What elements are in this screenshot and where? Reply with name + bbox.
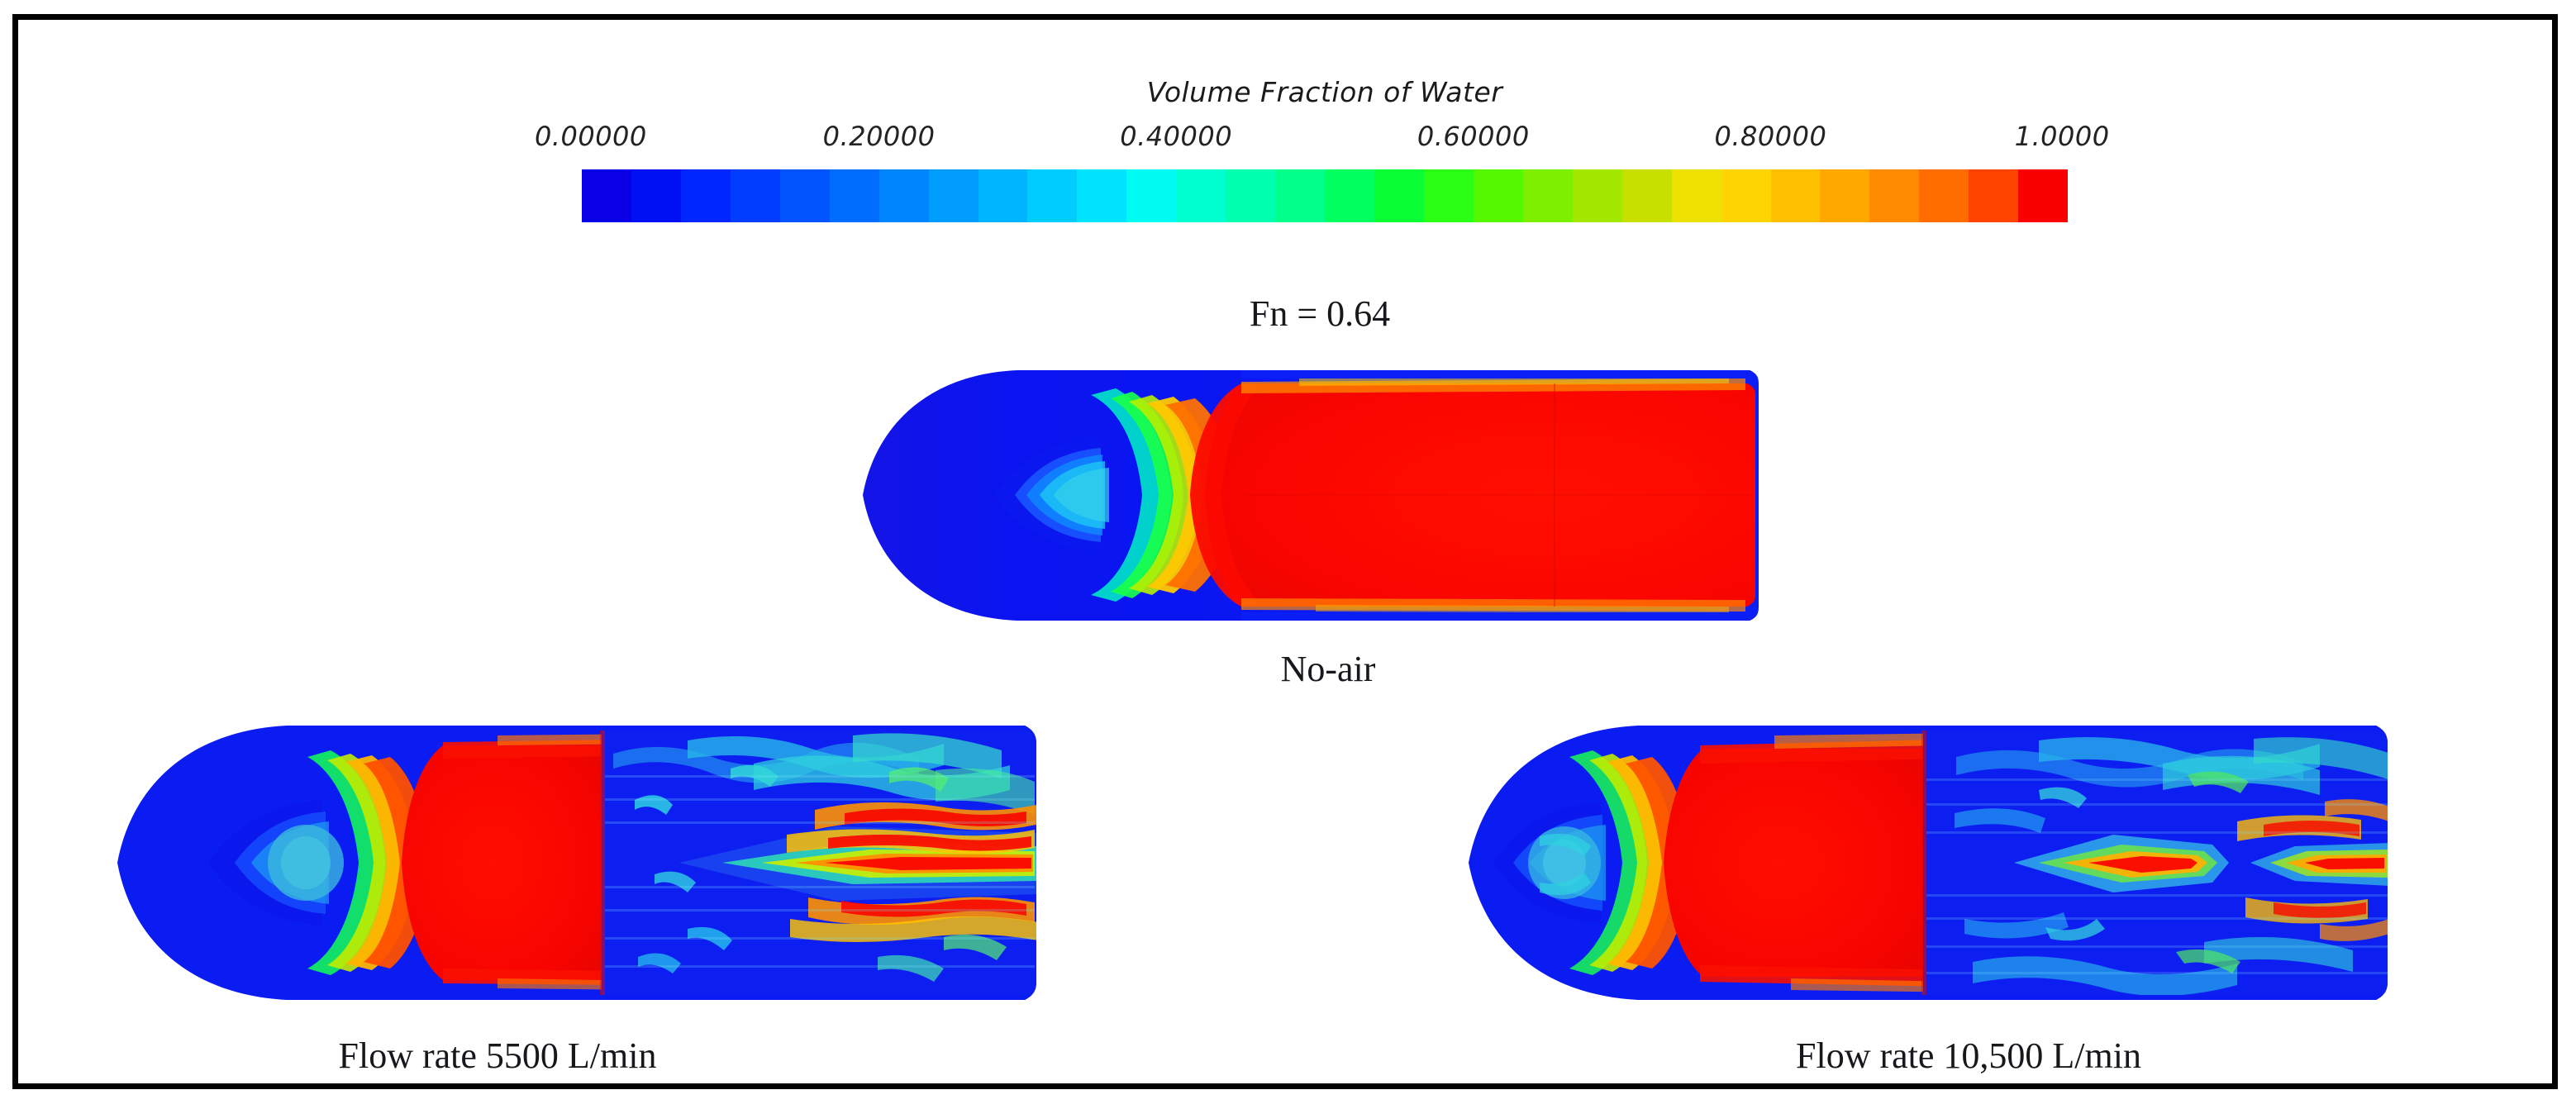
colorbar-tick-2: 0.40000 [1120,121,1232,152]
colorbar-band-16 [1374,169,1424,222]
colorbar-band-4 [780,169,830,222]
colorbar-band-7 [929,169,978,222]
air-cavity-field-5500 [600,726,1040,1000]
hull-panel-no-air [853,365,1762,626]
hull-field-flow-10500 [1460,721,2394,1006]
colorbar-title: Volume Fraction of Water [582,76,2068,108]
colorbar-gradient [582,169,2068,222]
colorbar-band-13 [1226,169,1275,222]
colorbar-tick-1: 0.20000 [823,121,936,152]
hull-contour-no-air [853,365,1762,626]
colorbar-band-17 [1424,169,1474,222]
colorbar-band-10 [1077,169,1126,222]
hull-panel-flow-5500 [109,721,1043,1006]
caption-flow-10500: Flow rate 10,500 L/min [1663,1035,2274,1077]
colorbar-band-22 [1672,169,1721,222]
no-air-label: No-air [1150,648,1506,690]
colorbar-band-26 [1869,169,1919,222]
colorbar-band-9 [1027,169,1077,222]
colorbar-band-5 [830,169,879,222]
colorbar-tick-3: 0.60000 [1417,121,1530,152]
air-cavity-field-10500 [1921,726,2391,1000]
colorbar-band-24 [1771,169,1821,222]
colorbar-band-19 [1523,169,1573,222]
colorbar-band-11 [1126,169,1176,222]
caption-flow-5500: Flow rate 5500 L/min [217,1035,779,1077]
colorbar-band-23 [1721,169,1771,222]
colorbar-band-0 [582,169,631,222]
colorbar-band-8 [978,169,1028,222]
hull-contour-flow-10500 [1460,721,2394,1006]
colorbar-band-2 [681,169,731,222]
colorbar-band-12 [1176,169,1226,222]
colorbar-tick-0: 0.00000 [535,121,647,152]
colorbar-band-29 [2018,169,2068,222]
figure-root: Volume Fraction of Water 0.000000.200000… [0,0,2576,1109]
colorbar-band-18 [1474,169,1523,222]
hull-panel-flow-10500 [1460,721,2394,1006]
hull-field-no-air [853,365,1762,626]
froude-number-label: Fn = 0.64 [1142,293,1498,335]
colorbar: Volume Fraction of Water 0.000000.200000… [582,169,2068,222]
figure-border: Volume Fraction of Water 0.000000.200000… [12,14,2558,1089]
colorbar-tick-labels: 0.000000.200000.400000.600000.800001.000… [582,121,2068,160]
colorbar-tick-4: 0.80000 [1714,121,1826,152]
colorbar-band-3 [731,169,780,222]
colorbar-band-21 [1622,169,1672,222]
hull-contour-flow-5500 [109,721,1043,1006]
colorbar-band-20 [1573,169,1622,222]
colorbar-tick-5: 1.0000 [2015,121,2110,152]
hull-field-flow-5500 [109,721,1043,1006]
colorbar-band-14 [1275,169,1325,222]
colorbar-band-6 [879,169,929,222]
colorbar-band-1 [631,169,681,222]
colorbar-band-15 [1325,169,1374,222]
colorbar-band-27 [1919,169,1969,222]
colorbar-band-25 [1820,169,1869,222]
colorbar-band-28 [1969,169,2018,222]
